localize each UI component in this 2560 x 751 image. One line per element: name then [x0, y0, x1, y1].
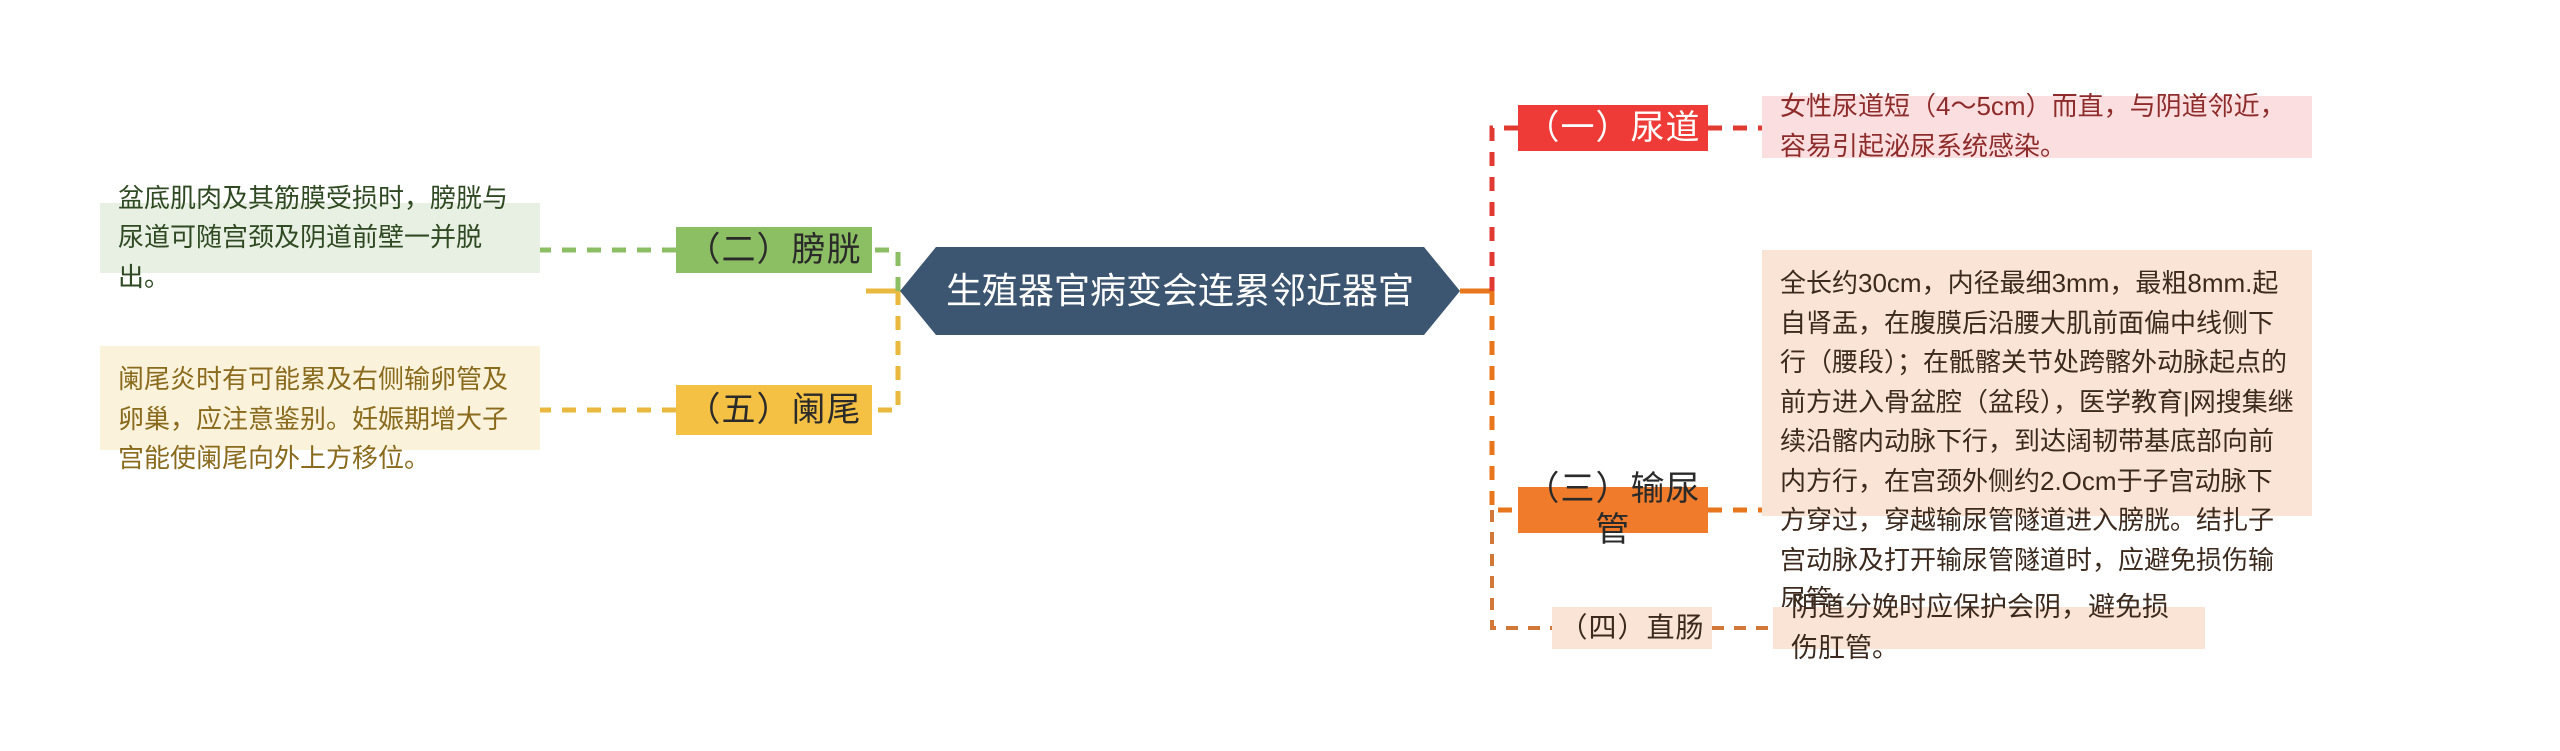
central-node[interactable]: 生殖器官病变会连累邻近器官	[900, 247, 1460, 335]
branch-label-appendix[interactable]: （五）阑尾	[676, 385, 872, 435]
branch-label-urethra[interactable]: （一）尿道	[1518, 105, 1708, 151]
branch-label-bladder[interactable]: （二）膀胱	[676, 227, 872, 273]
branch-description-ureter: 全长约30cm，内径最细3mm，最粗8mm.起自肾盂，在腹膜后沿腰大肌前面偏中线…	[1762, 250, 2312, 516]
central-node-title: 生殖器官病变会连累邻近器官	[900, 247, 1460, 335]
branch-label-ureter[interactable]: （三）输尿管	[1518, 487, 1708, 533]
branch-description-urethra: 女性尿道短（4～5cm）而直，与阴道邻近，容易引起泌尿系统感染。	[1762, 96, 2312, 158]
branch-description-appendix: 阑尾炎时有可能累及右侧输卵管及卵巢，应注意鉴别。妊娠期增大子宫能使阑尾向外上方移…	[100, 346, 540, 450]
branch-description-bladder: 盆底肌肉及其筋膜受损时，膀胱与尿道可随宫颈及阴道前壁一并脱出。	[100, 203, 540, 273]
connector-urethra	[1492, 128, 1762, 291]
branch-label-rectum[interactable]: （四）直肠	[1552, 607, 1712, 649]
branch-description-rectum: 阴道分娩时应保护会阴，避免损伤肛管。	[1773, 607, 2205, 649]
mindmap-canvas: 生殖器官病变会连累邻近器官 （一）尿道 女性尿道短（4～5cm）而直，与阴道邻近…	[0, 0, 2560, 751]
